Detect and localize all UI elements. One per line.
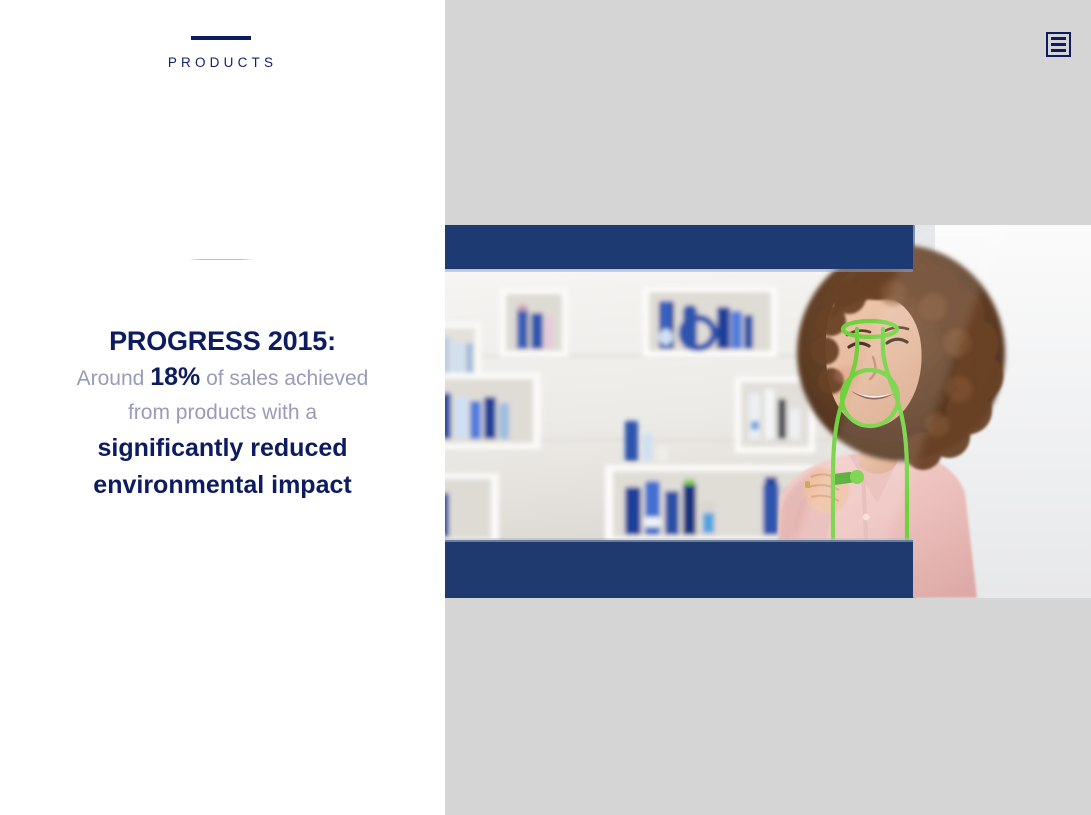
hero-photo-illustration — [445, 225, 1091, 598]
menu-bar-3 — [1051, 49, 1066, 52]
stat-prefix: Around — [77, 367, 145, 390]
stat-percent-value: 18% — [150, 363, 200, 391]
hero-photo — [445, 225, 1091, 598]
menu-bar-2 — [1051, 43, 1066, 46]
media-column — [445, 0, 1091, 815]
hamburger-menu-icon[interactable] — [1046, 32, 1071, 57]
slide-root: PRODUCTS PROGRESS 2015: Around 18% of sa… — [0, 0, 1091, 815]
section-divider — [189, 259, 254, 260]
stat-line-1: Around 18% of sales achieved — [0, 360, 445, 396]
text-column: PRODUCTS PROGRESS 2015: Around 18% of sa… — [0, 0, 445, 815]
stat-line-2: from products with a — [0, 396, 445, 430]
menu-bar-1 — [1051, 37, 1066, 40]
progress-stat-block: PROGRESS 2015: Around 18% of sales achie… — [0, 323, 445, 504]
eyebrow-rule — [191, 36, 251, 40]
stat-heading: PROGRESS 2015: — [0, 323, 445, 360]
section-eyebrow-label: PRODUCTS — [0, 55, 445, 70]
stat-emphasis-line-1: significantly reduced — [0, 430, 445, 467]
stat-emphasis-line-2: environmental impact — [0, 467, 445, 504]
stat-suffix: of sales achieved — [206, 367, 368, 390]
